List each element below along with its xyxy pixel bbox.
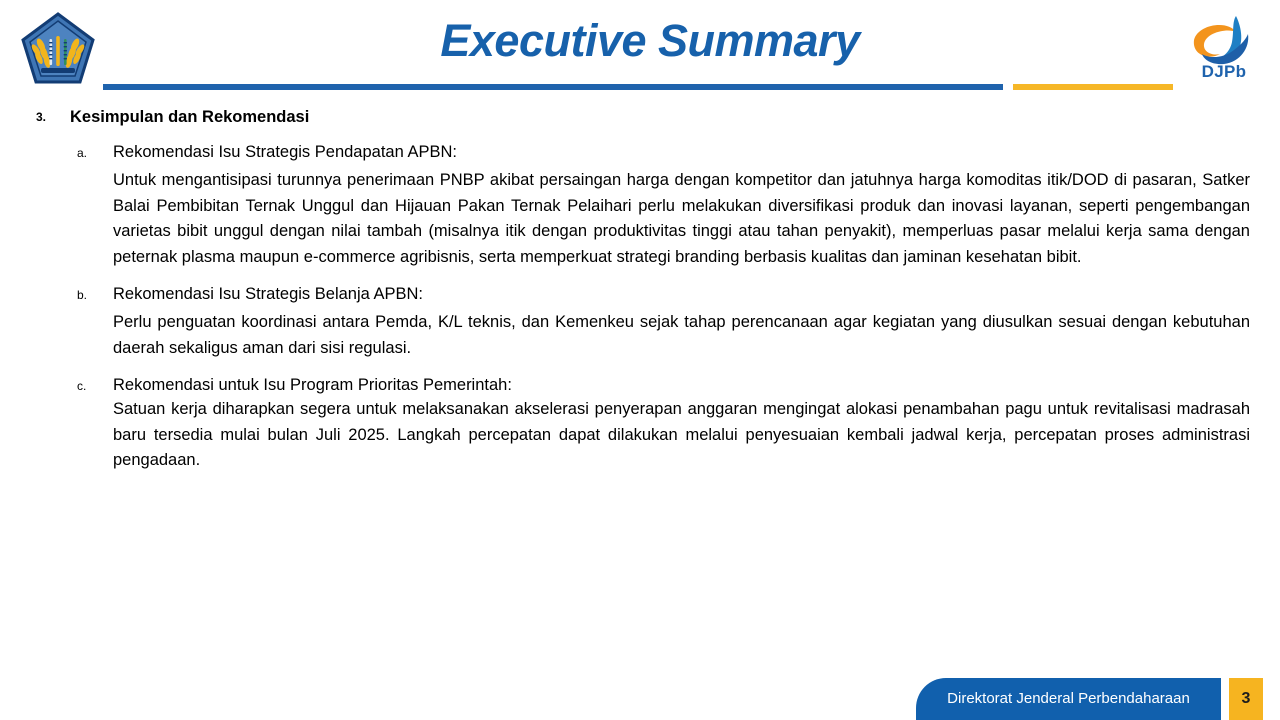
header-rule-orange <box>1013 84 1173 90</box>
list-item-body: Untuk mengantisipasi turunnya penerimaan… <box>113 168 1250 270</box>
list-item-marker: b. <box>77 288 87 302</box>
kemenkeu-logo <box>21 12 95 88</box>
list-item-subheading: Rekomendasi Isu Strategis Belanja APBN: <box>113 283 1280 305</box>
list-item: c. Rekomendasi untuk Isu Program Priorit… <box>0 374 1280 396</box>
list-item-body: Perlu penguatan koordinasi antara Pemda,… <box>113 310 1250 361</box>
section-heading: Kesimpulan dan Rekomendasi <box>70 106 1280 128</box>
list-item-subheading: Rekomendasi Isu Strategis Pendapatan APB… <box>113 141 1280 163</box>
page-number-box: 3 <box>1229 678 1263 720</box>
page-number: 3 <box>1229 678 1263 720</box>
footer-banner: Direktorat Jenderal Perbendaharaan <box>916 678 1221 720</box>
list-item-marker: c. <box>77 379 86 393</box>
slide-header: Executive Summary DJPb <box>0 0 1280 100</box>
djpb-wordmark: DJPb <box>1184 62 1264 82</box>
list-item-marker: a. <box>77 146 87 160</box>
list-item: a. Rekomendasi Isu Strategis Pendapatan … <box>0 141 1280 163</box>
list-item-subheading: Rekomendasi untuk Isu Program Prioritas … <box>113 374 1280 396</box>
page-title: Executive Summary <box>200 12 1100 70</box>
section-heading-block: 3. Kesimpulan dan Rekomendasi <box>0 106 1280 128</box>
list-item: b. Rekomendasi Isu Strategis Belanja APB… <box>0 283 1280 305</box>
header-rule-blue <box>103 84 1003 90</box>
slide-content: 3. Kesimpulan dan Rekomendasi a. Rekomen… <box>0 100 1280 474</box>
footer-organization-label: Direktorat Jenderal Perbendaharaan <box>916 678 1221 720</box>
list-item-body: Satuan kerja diharapkan segera untuk mel… <box>113 397 1250 474</box>
section-marker: 3. <box>36 110 46 124</box>
